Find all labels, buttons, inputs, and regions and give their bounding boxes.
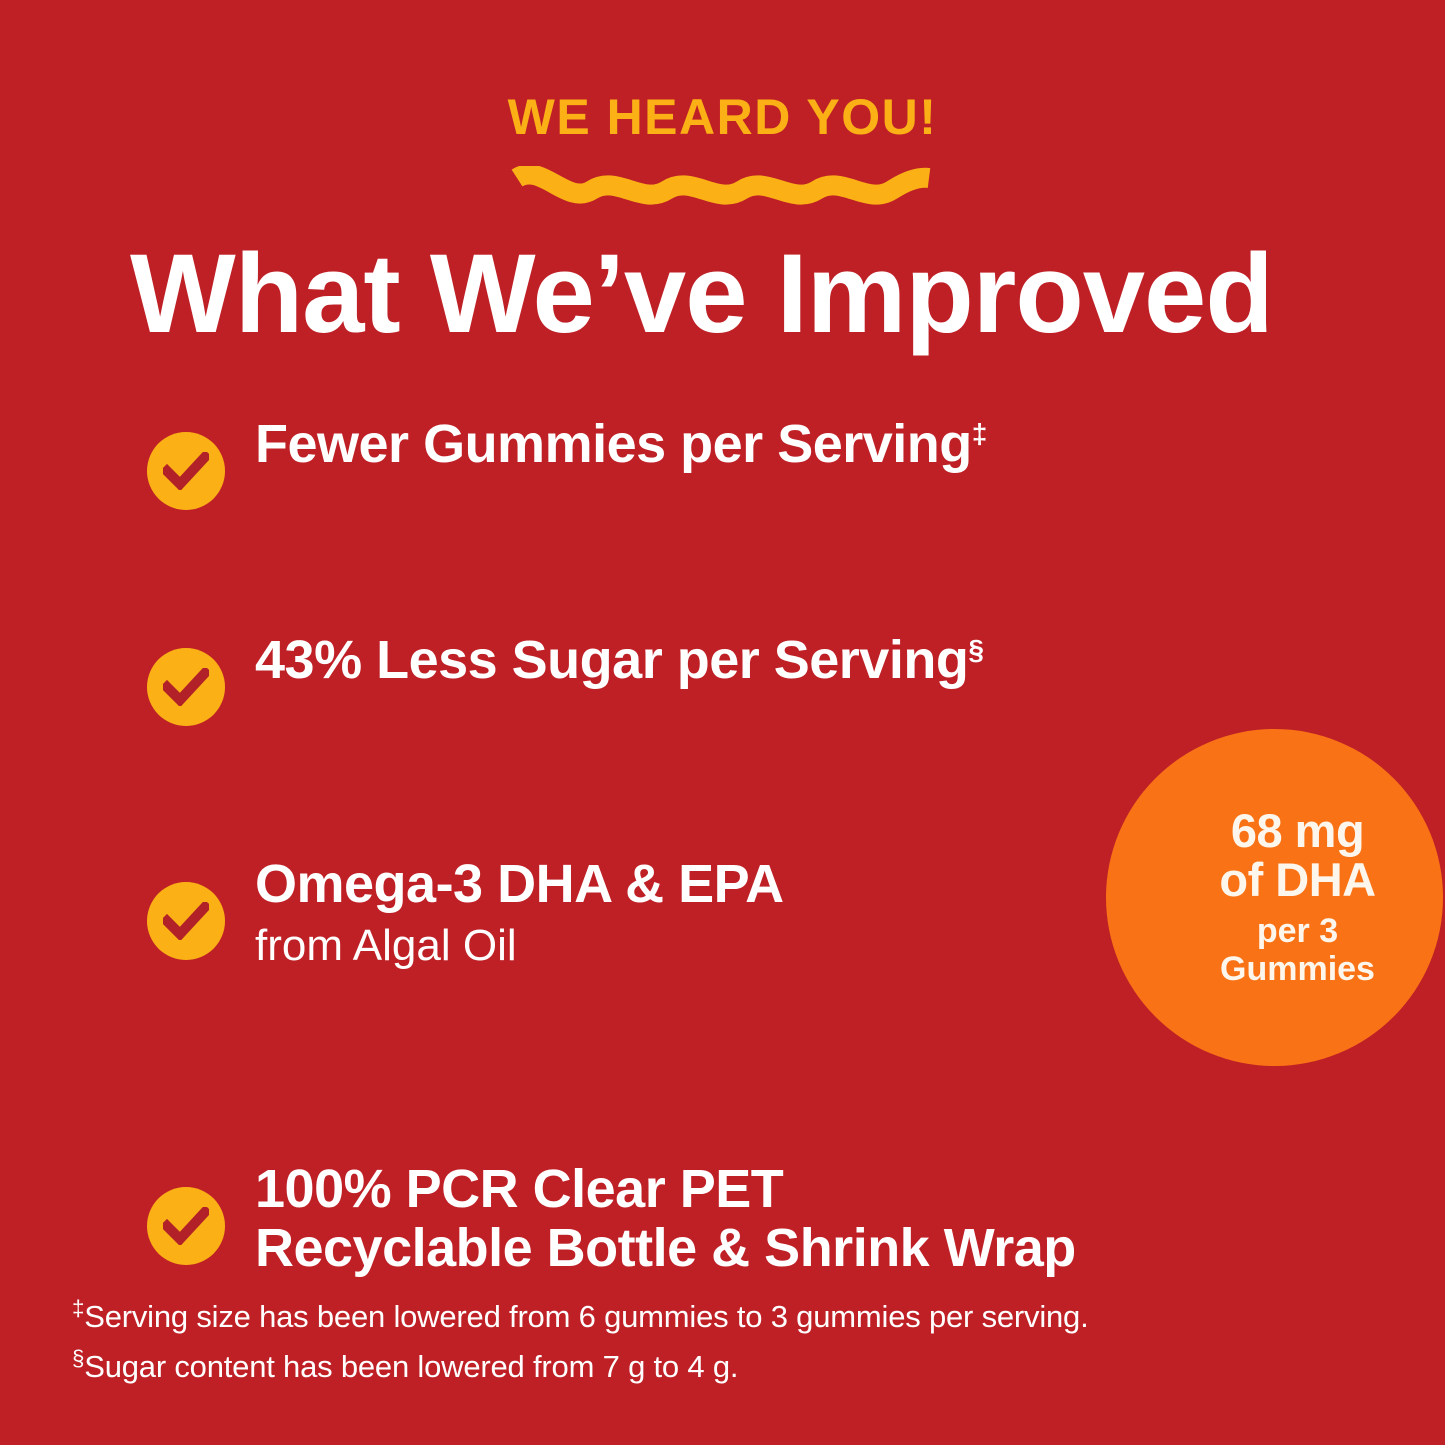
list-item-text: Omega-3 DHA & EPA from Algal Oil: [255, 853, 784, 973]
list-item-text: 43% Less Sugar per Serving§: [255, 629, 983, 690]
footnote-item: §Sugar content has been lowered from 7 g…: [72, 1342, 1089, 1392]
list-item-title: Fewer Gummies per Serving: [255, 414, 972, 474]
list-item-title-line2: Recyclable Bottle & Shrink Wrap: [255, 1218, 1076, 1278]
footnote-marker: §: [72, 1346, 84, 1371]
check-circle-icon: [147, 882, 225, 960]
footnote-marker: ‡: [72, 1296, 84, 1321]
footnote-text: Sugar content has been lowered from 7 g …: [84, 1349, 738, 1384]
list-item: Omega-3 DHA & EPA from Algal Oil: [147, 853, 1327, 973]
list-item-subtitle: from Algal Oil: [255, 920, 784, 973]
footnote-marker: §: [968, 634, 983, 665]
wavy-squiggle-divider-icon: [511, 166, 935, 212]
check-circle-icon: [147, 1187, 225, 1265]
check-circle-icon: [147, 648, 225, 726]
footnote-text: Serving size has been lowered from 6 gum…: [84, 1299, 1088, 1334]
squiggle-divider-wrap: [0, 166, 1445, 212]
list-item-title: 43% Less Sugar per Serving: [255, 630, 968, 690]
promo-poster: WE HEARD YOU! What We’ve Improved 68 mg …: [0, 0, 1445, 1445]
list-item-text: 100% PCR Clear PET Recyclable Bottle & S…: [255, 1158, 1076, 1278]
list-item-text: Fewer Gummies per Serving‡: [255, 413, 987, 474]
footnote-item: ‡Serving size has been lowered from 6 gu…: [72, 1292, 1089, 1342]
kicker-text: WE HEARD YOU!: [0, 92, 1445, 142]
list-item: Fewer Gummies per Serving‡: [147, 413, 1327, 510]
footnotes: ‡Serving size has been lowered from 6 gu…: [72, 1292, 1089, 1392]
improvements-list: Fewer Gummies per Serving‡ 43% Less Suga…: [147, 413, 1327, 1277]
check-circle-icon: [147, 432, 225, 510]
page-title: What We’ve Improved: [130, 237, 1360, 351]
list-item-title: Omega-3 DHA & EPA: [255, 854, 784, 914]
list-item: 43% Less Sugar per Serving§: [147, 629, 1327, 726]
footnote-marker: ‡: [972, 418, 987, 449]
list-item: 100% PCR Clear PET Recyclable Bottle & S…: [147, 1158, 1327, 1278]
list-item-title: 100% PCR Clear PET: [255, 1159, 783, 1219]
